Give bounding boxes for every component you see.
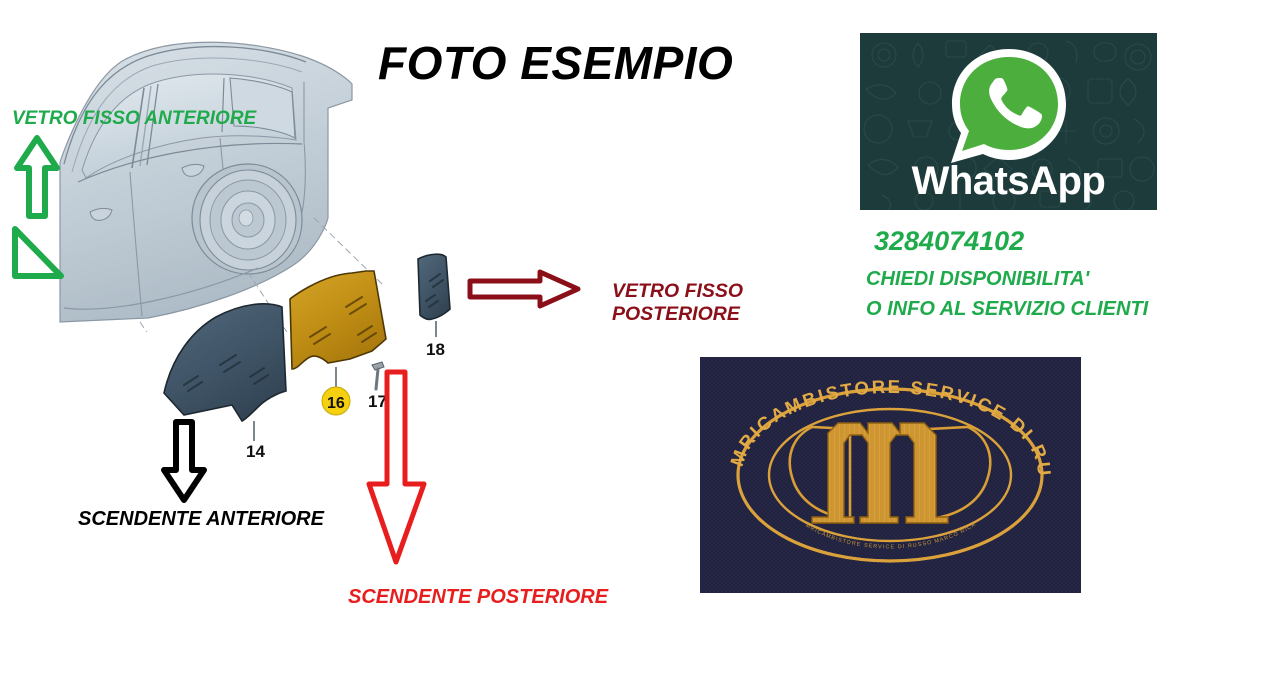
arrow-up-green-icon [14, 134, 60, 225]
svg-text:16: 16 [327, 395, 345, 412]
whatsapp-cta-line-2: O INFO AL SERVIZIO CLIENTI [866, 298, 1148, 321]
arrow-down-red-icon [360, 368, 434, 573]
label-vetro-fisso-posteriore: VETRO FISSO POSTERIORE [612, 280, 743, 325]
whatsapp-cta-line-1: CHIEDI DISPONIBILITA' [866, 268, 1089, 291]
label-scendente-anteriore: SCENDENTE ANTERIORE [78, 508, 324, 531]
arrow-down-black-icon [158, 418, 210, 509]
arrow-right-maroon-icon [466, 268, 582, 315]
whatsapp-banner: WhatsApp [860, 33, 1157, 210]
label-scendente-posteriore: SCENDENTE POSTERIORE [348, 586, 608, 609]
whatsapp-phone-number[interactable]: 3284074102 [874, 226, 1024, 257]
svg-text:18: 18 [426, 340, 445, 359]
whatsapp-logo-icon [938, 43, 1080, 169]
svg-text:14: 14 [246, 442, 265, 460]
triangle-green-icon [10, 224, 66, 287]
whatsapp-wordmark: WhatsApp [860, 159, 1157, 204]
poster-canvas: 14 16 17 [0, 0, 1264, 678]
page-title: FOTO ESEMPIO [378, 36, 733, 90]
label-vetro-fisso-anteriore: VETRO FISSO ANTERIORE [12, 108, 256, 130]
shop-logo-banner: MRICAMBISTORE SERVICE DI RUSSO MARCO MRI… [700, 357, 1081, 593]
